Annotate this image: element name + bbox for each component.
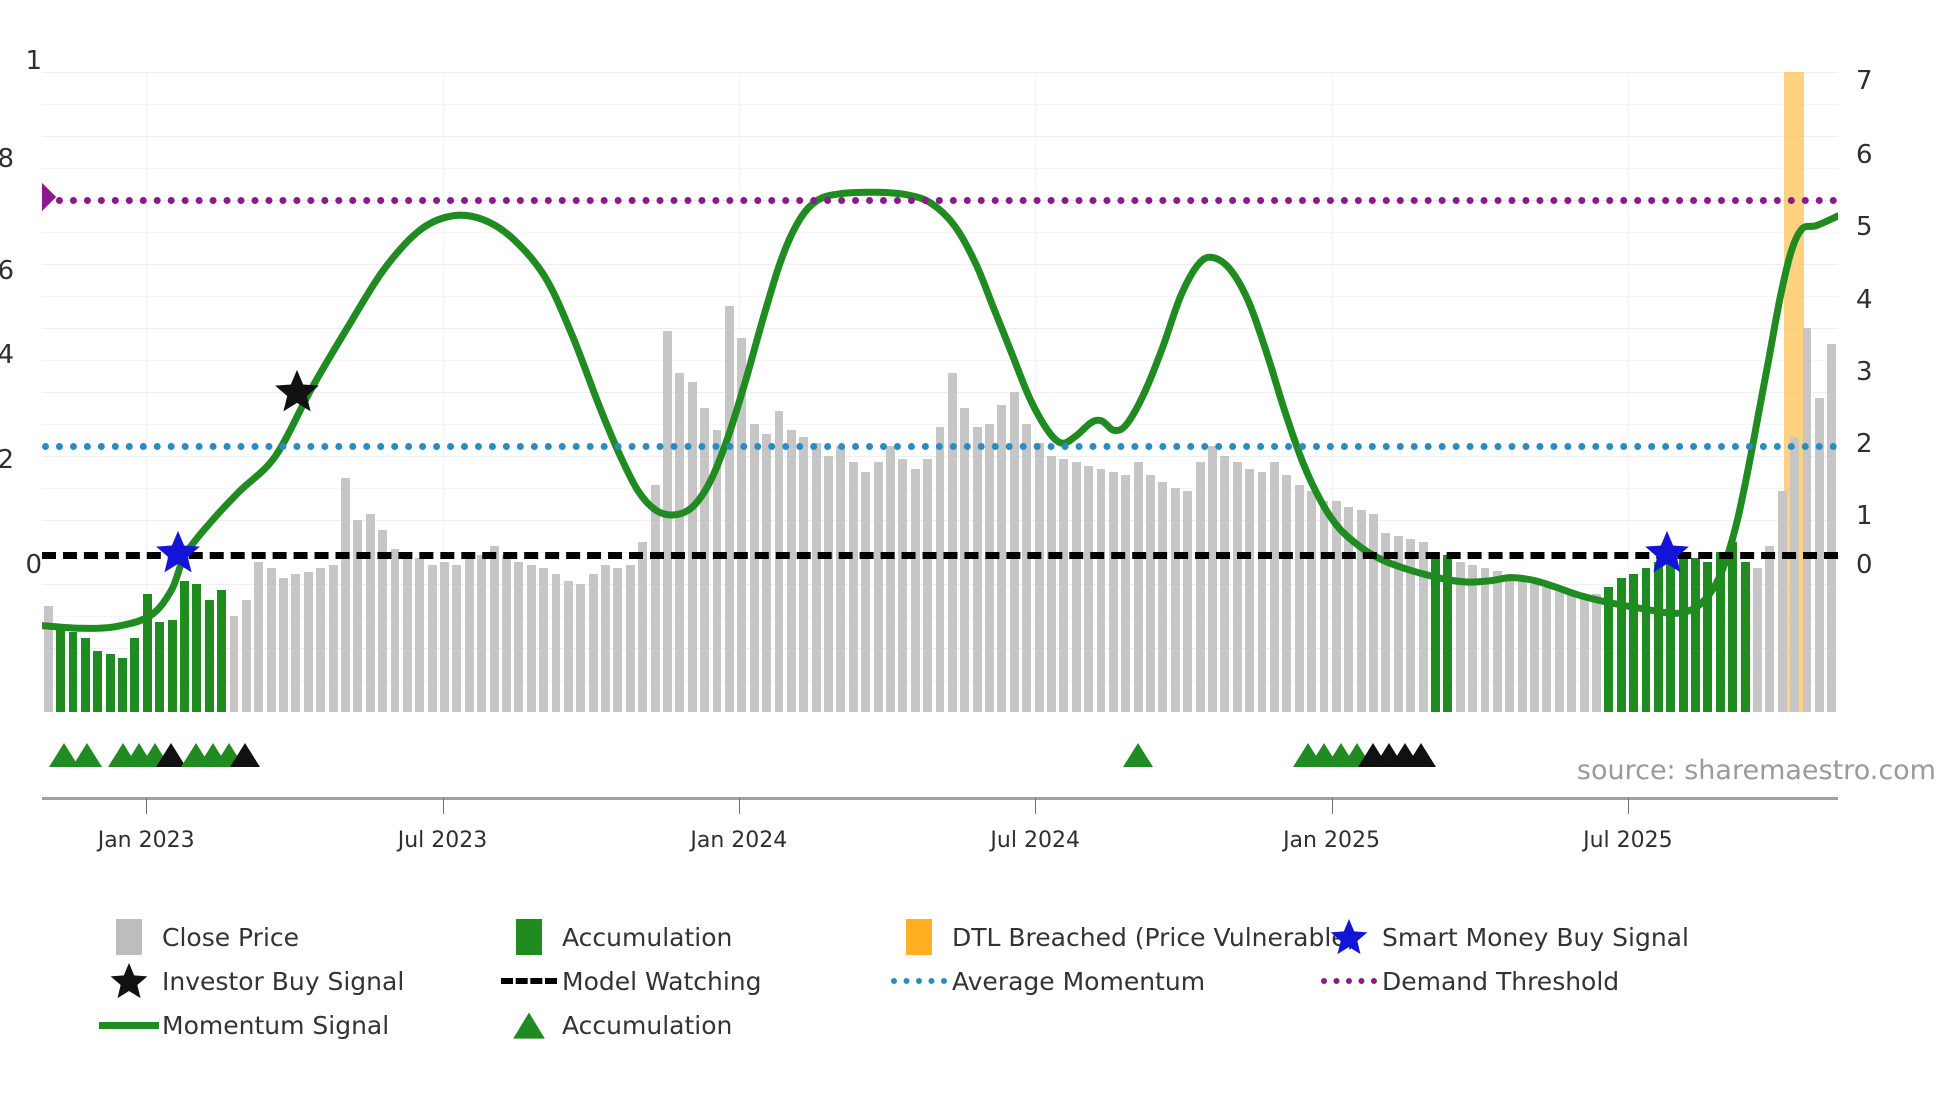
gridline [42,232,1838,233]
y-axis-right-tick-7: 7 [1856,66,1902,96]
close-price-bar [1381,533,1390,712]
legend-item-dtl-breached[interactable]: DTL Breached (Price Vulnerable) [886,919,1316,955]
close-price-bar [713,430,722,712]
close-price-bar [1307,491,1316,712]
accumulation-bar [192,584,201,712]
accumulation-bar [1604,587,1613,712]
close-price-bar [1567,594,1576,712]
accumulation-bar [106,654,115,712]
close-price-bar [1518,581,1527,712]
accumulation-bar [56,626,65,712]
accumulation-bar [93,651,102,712]
accumulation-bar [1716,552,1725,712]
black-star-icon [96,961,162,1001]
gridline [42,136,1838,137]
close-price-bar [1047,456,1056,712]
close-price-bar [1171,488,1180,712]
close-price-bar [527,565,536,712]
close-price-bar [279,578,288,712]
close-price-bar [552,574,561,712]
x-axis-tick [1035,798,1036,814]
blue-star-icon [1316,917,1382,957]
close-price-bar [1022,424,1031,712]
close-price-bar [428,565,437,712]
close-price-bar [1394,536,1403,712]
close-price-bar [700,408,709,712]
green-triangle-icon [496,1010,562,1040]
legend-label: Smart Money Buy Signal [1382,923,1689,952]
legend-label: Momentum Signal [162,1011,389,1040]
close-price-bar [1505,574,1514,712]
x-axis-tick-label: Jan 2025 [1252,828,1412,853]
y-axis-right-tick-0: 0 [1856,550,1902,580]
close-price-bar [973,427,982,712]
close-price-bar [960,408,969,712]
close-price-bar [514,562,523,712]
x-axis-tick-label: Jul 2023 [363,828,523,853]
accumulation-bar [180,581,189,712]
gridline [42,424,1838,425]
close-price-bar [403,555,412,712]
close-price-bar [651,485,660,712]
y-axis-right-tick-4: 4 [1856,285,1902,315]
purple-dotted-line-icon [1316,978,1382,984]
gray-square-icon [96,919,162,955]
x-axis-tick [1332,798,1333,814]
close-price-bar [1183,491,1192,712]
y-axis-right-tick-1: 1 [1856,501,1902,531]
close-price-bar [737,338,746,712]
gridline [42,104,1838,105]
close-price-bar [613,568,622,712]
legend-label: Investor Buy Signal [162,967,404,996]
legend-item-accumulation-bar[interactable]: Accumulation [496,919,886,955]
average-momentum-line [42,443,1838,450]
chart-canvas: 1 0.8 0.6 0.4 0.2 0 7 6 5 4 3 2 1 0 sour… [0,0,1960,1102]
close-price-bar [626,565,635,712]
legend-row-2: Investor Buy Signal Model Watching Avera… [96,962,1896,1000]
close-price-bar [1419,542,1428,712]
legend-label: Accumulation [562,1011,732,1040]
close-price-bar [329,565,338,712]
accumulation-bar [1666,555,1675,712]
legend-label: Close Price [162,923,299,952]
close-price-bar [44,606,53,712]
green-square-icon [496,919,562,955]
close-price-bar [985,424,994,712]
legend-row-3: Momentum Signal Accumulation [96,1006,1896,1044]
close-price-bar [1344,507,1353,712]
chart-legend: Close Price Accumulation DTL Breached (P… [96,918,1896,1050]
orange-square-icon [886,919,952,955]
accumulation-triangle-marker [1123,743,1153,767]
accumulation-bar [1629,574,1638,712]
close-price-bar [1282,475,1291,712]
legend-label: DTL Breached (Price Vulnerable) [952,923,1356,952]
accumulation-bar [1617,578,1626,712]
x-axis-line [42,797,1838,800]
accumulation-bar [1679,552,1688,712]
close-price-bar [539,568,548,712]
close-price-bar [775,411,784,712]
accumulation-bar [1443,555,1452,712]
close-price-bar [254,562,263,712]
close-price-bar [1555,590,1564,712]
close-price-bar [230,616,239,712]
y-axis-left-tick-02: 0.2 [0,445,14,475]
y-axis-left-tick-06: 0.6 [0,256,14,286]
legend-item-demand-threshold[interactable]: Demand Threshold [1316,967,1619,996]
gridline [42,72,1838,73]
close-price-bar [1097,469,1106,712]
close-price-bar [366,514,375,712]
legend-label: Demand Threshold [1382,967,1619,996]
gridline [42,264,1838,265]
legend-item-average-momentum[interactable]: Average Momentum [886,967,1316,996]
close-price-bar [874,462,883,712]
close-price-bar [898,459,907,712]
close-price-bar [601,565,610,712]
legend-item-close-price[interactable]: Close Price [96,919,496,955]
y-axis-right-tick-6: 6 [1856,140,1902,170]
close-price-bar [762,434,771,712]
close-price-bar [477,555,486,712]
close-price-bar [824,456,833,712]
accumulation-triangle-row [42,743,1838,773]
demand-threshold-line [42,197,1838,204]
close-price-bar [465,552,474,712]
close-price-bar [502,555,511,712]
gridline [42,360,1838,361]
close-price-bar [1295,485,1304,712]
legend-item-investor-buy[interactable]: Investor Buy Signal [96,961,496,1001]
accumulation-bar [1703,562,1712,712]
accumulation-bar [81,638,90,712]
accumulation-triangle-marker [72,743,102,767]
close-price-bar [911,469,920,712]
x-axis-tick-label: Jan 2023 [66,828,226,853]
accumulation-bar [155,622,164,712]
accumulation-bar [69,632,78,712]
green-solid-line-icon [96,1022,162,1029]
accumulation-bar [1691,558,1700,712]
close-price-bar [391,549,400,712]
close-price-bar [1072,462,1081,712]
close-price-bar [1357,510,1366,712]
close-price-bar [1765,546,1774,712]
blue-dotted-line-icon [886,978,952,984]
legend-label: Model Watching [562,967,762,996]
legend-item-momentum-signal[interactable]: Momentum Signal [96,1011,496,1040]
accumulation-bar [1431,552,1440,712]
close-price-bar [1208,446,1217,712]
y-axis-left-tick-08: 0.8 [0,144,14,174]
close-price-bar [564,581,573,712]
smart-money-buy-star-marker [1644,529,1690,575]
close-price-bar [1258,472,1267,712]
close-price-bar [304,572,313,712]
close-price-bar [1134,462,1143,712]
close-price-bar [638,542,647,712]
close-price-bar [1196,462,1205,712]
close-price-bar [316,568,325,712]
close-price-bar [1827,344,1836,712]
close-price-bar [1084,466,1093,712]
close-price-bar [1481,568,1490,712]
legend-label: Accumulation [562,923,732,952]
close-price-bar [1220,456,1229,712]
x-axis-tick-label: Jul 2025 [1548,828,1708,853]
close-price-bar [1778,491,1787,712]
close-price-bar [353,520,362,712]
legend-row-1: Close Price Accumulation DTL Breached (P… [96,918,1896,956]
close-price-bar [490,546,499,712]
y-axis-left-tick-0: 0 [0,550,42,580]
close-price-bar [576,584,585,712]
x-axis-tick [739,798,740,814]
legend-item-smart-money[interactable]: Smart Money Buy Signal [1316,917,1689,957]
close-price-bar [589,574,598,712]
close-price-bar [861,472,870,712]
close-price-bar [1542,587,1551,712]
close-price-bar [1059,459,1068,712]
close-price-bar [1121,475,1130,712]
close-price-bar [1803,328,1812,712]
gridline [42,328,1838,329]
close-price-bar [787,430,796,712]
close-price-bar [1790,437,1799,712]
demand-threshold-diamond-marker [42,180,59,214]
close-price-bar [812,443,821,712]
close-price-bar [415,558,424,712]
close-price-bar [923,459,932,712]
close-price-bar [799,437,808,712]
close-price-bar [1369,514,1378,712]
close-price-bar [440,562,449,712]
close-price-bar [1035,443,1044,712]
close-price-bar [1109,472,1118,712]
model-watching-line [42,552,1838,559]
close-price-bar [1592,594,1601,712]
close-price-bar [1493,571,1502,712]
close-price-bar [291,574,300,712]
close-price-bar [1270,462,1279,712]
close-price-bar [886,446,895,712]
close-price-bar [341,478,350,712]
x-axis-tick-label: Jan 2024 [659,828,819,853]
close-price-bar [452,565,461,712]
close-price-bar [242,600,251,712]
plot-area [42,72,1838,712]
close-price-bar [948,373,957,712]
close-price-bar [1233,462,1242,712]
smart-money-buy-star-marker [155,529,201,575]
accumulation-bar [143,594,152,712]
close-price-bar [1245,469,1254,712]
close-price-bar [1158,482,1167,712]
x-axis-tick [146,798,147,814]
gridline [42,296,1838,297]
y-axis-right-tick-5: 5 [1856,212,1902,242]
x-axis-tick [443,798,444,814]
close-price-bar [836,446,845,712]
close-price-bar [1146,475,1155,712]
gridline [42,168,1838,169]
close-price-bar [750,424,759,712]
accumulation-bar [217,590,226,712]
accumulation-bar [168,620,177,712]
black-dashed-line-icon [496,978,562,984]
close-price-bar [1406,539,1415,712]
accumulation-triangle-marker [1406,743,1436,767]
close-price-bar [1468,565,1477,712]
x-axis-tick-label: Jul 2024 [955,828,1115,853]
close-price-bar [675,373,684,712]
close-price-bar [1320,501,1329,712]
y-axis-left-tick-04: 0.4 [0,340,14,370]
close-price-bar [1580,597,1589,712]
accumulation-bar [1741,562,1750,712]
close-price-bar [1332,501,1341,712]
accumulation-bar [118,658,127,712]
close-price-bar [688,382,697,712]
close-price-bar [725,306,734,712]
x-axis-tick [1628,798,1629,814]
accumulation-bar [130,638,139,712]
close-price-bar [1530,584,1539,712]
legend-label: Average Momentum [952,967,1205,996]
source-note: source: sharemaestro.com [1577,755,1936,786]
close-price-bar [663,331,672,712]
legend-item-model-watching[interactable]: Model Watching [496,967,886,996]
close-price-bar [1456,562,1465,712]
close-price-bar [267,568,276,712]
accumulation-bar [1654,562,1663,712]
y-axis-right-tick-3: 3 [1856,357,1902,387]
y-axis-right-tick-2: 2 [1856,429,1902,459]
accumulation-bar [1728,542,1737,712]
accumulation-bar [1642,568,1651,712]
accumulation-bar [205,600,214,712]
close-price-bar [849,462,858,712]
y-axis-left-tick-1: 1 [0,46,42,76]
close-price-bar [1753,568,1762,712]
accumulation-triangle-marker [230,743,260,767]
close-price-bar [936,427,945,712]
investor-buy-star-marker [274,368,320,414]
legend-item-accumulation-triangle[interactable]: Accumulation [496,1010,886,1040]
